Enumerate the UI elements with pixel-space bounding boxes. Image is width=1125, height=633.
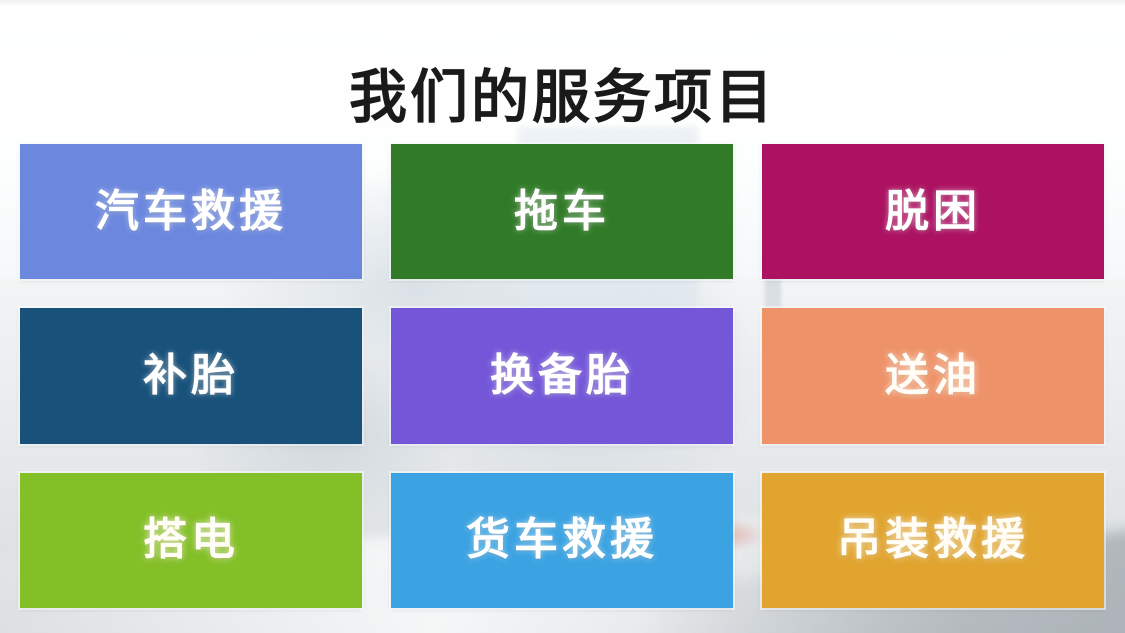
service-tile-fuel-delivery[interactable]: 送油 (762, 308, 1104, 443)
service-tile-car-rescue[interactable]: 汽车救援 (20, 144, 362, 279)
page-title: 我们的服务项目 (0, 61, 1125, 133)
service-tile-label: 拖车 (514, 190, 610, 234)
service-tile-label: 补胎 (143, 354, 239, 398)
service-tile-label: 送油 (885, 354, 981, 398)
service-tile-extrication[interactable]: 脱困 (762, 144, 1104, 279)
service-tile-towing[interactable]: 拖车 (391, 144, 733, 279)
service-tile-label: 换备胎 (490, 354, 634, 398)
service-tile-label: 吊装救援 (837, 518, 1029, 562)
service-poster: 我们的服务项目 汽车救援 拖车 脱困 补胎 换备胎 送油 搭电 货车救援 吊装救… (0, 0, 1125, 633)
service-tile-crane-rescue[interactable]: 吊装救援 (762, 473, 1104, 608)
service-tile-jump-start[interactable]: 搭电 (20, 473, 362, 608)
service-tile-label: 脱困 (885, 190, 981, 234)
service-tile-label: 搭电 (143, 518, 239, 562)
service-tile-truck-rescue[interactable]: 货车救援 (391, 473, 733, 608)
service-grid: 汽车救援 拖车 脱困 补胎 换备胎 送油 搭电 货车救援 吊装救援 (20, 144, 1104, 608)
service-tile-label: 汽车救援 (95, 190, 287, 234)
service-tile-label: 货车救援 (466, 518, 658, 562)
background-top-edge (0, 0, 1125, 5)
service-tile-spare-tire[interactable]: 换备胎 (391, 308, 733, 443)
service-tile-tire-repair[interactable]: 补胎 (20, 308, 362, 443)
